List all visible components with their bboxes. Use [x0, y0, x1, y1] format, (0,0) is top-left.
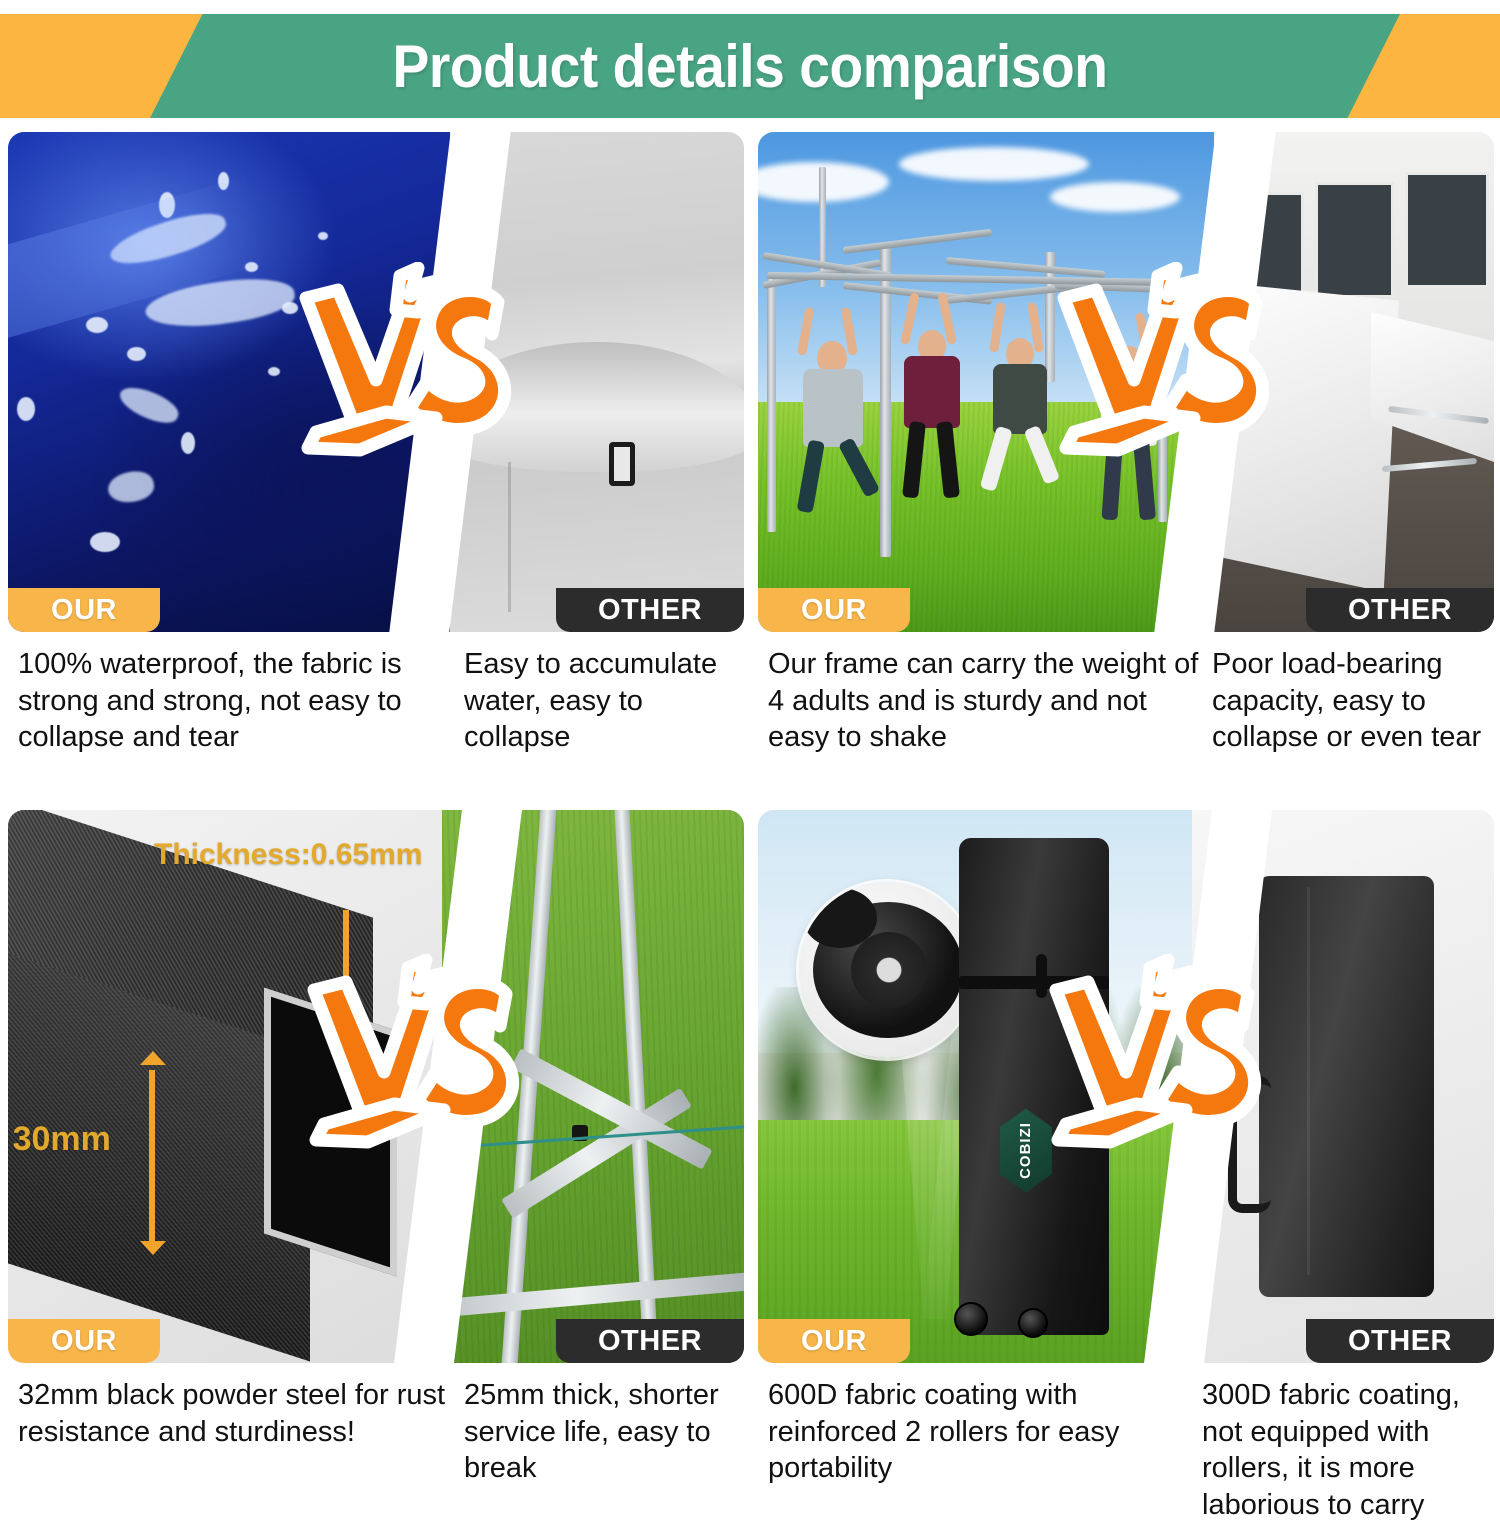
window — [1315, 182, 1394, 298]
brand-logo-text: COBIZI — [1017, 1122, 1034, 1179]
other-carry-bag — [1259, 876, 1434, 1296]
person-arm — [900, 292, 920, 345]
canopy-leg — [767, 272, 776, 532]
panel-image-stage: Thickness:0.65mm 30mm — [8, 810, 744, 1363]
page-header-banner: Product details comparison — [0, 14, 1500, 118]
comparison-panel-carry-bag: COBIZI OUR OTHER — [758, 810, 1494, 1523]
cloud — [899, 147, 1089, 181]
height-arrow-down — [140, 1241, 166, 1255]
our-caption: Our frame can carry the weight of 4 adul… — [758, 646, 1208, 756]
fabric-loop-detail — [609, 442, 635, 486]
person-leg — [797, 440, 825, 514]
comparison-grid: OUR OTHER 100% waterproof, the fabric is… — [0, 132, 1500, 1500]
other-badge: OTHER — [1306, 588, 1494, 632]
person-torso — [993, 364, 1047, 434]
other-badge: OTHER — [1306, 1319, 1494, 1363]
water-droplet — [17, 397, 35, 421]
person-hanging — [890, 292, 976, 507]
person-leg — [936, 421, 960, 498]
vs-icon — [290, 262, 520, 482]
other-badge: OTHER — [556, 1319, 744, 1363]
person-leg — [980, 426, 1013, 492]
panel-image-stage: COBIZI OUR OTHER — [758, 810, 1494, 1363]
panel-captions: 600D fabric coating with reinforced 2 ro… — [758, 1377, 1494, 1523]
other-caption: 300D fabric coating, not equipped with r… — [1198, 1377, 1494, 1523]
panel-image-stage: OUR OTHER — [8, 132, 744, 632]
person-leg — [902, 421, 926, 498]
thickness-annotation: Thickness:0.65mm — [154, 838, 422, 872]
person-torso — [904, 356, 960, 428]
wheel-closeup-inset — [799, 882, 975, 1058]
vs-icon — [298, 954, 528, 1174]
panel-image-stage: OUR OTHER — [758, 132, 1494, 632]
vs-icon — [1048, 262, 1278, 482]
other-badge: OTHER — [556, 588, 744, 632]
panel-captions: 32mm black powder steel for rust resista… — [8, 1377, 744, 1487]
water-droplet — [90, 532, 120, 552]
other-caption: Easy to accumulate water, easy to collap… — [460, 646, 744, 756]
wheel-second — [803, 888, 877, 948]
window — [1405, 172, 1489, 288]
page-title: Product details comparison — [60, 14, 1440, 118]
bag-roller-wheel — [1018, 1308, 1048, 1338]
wheel-hub — [851, 932, 927, 1008]
height-arrow-up — [140, 1051, 166, 1065]
comparison-panel-waterproof: OUR OTHER 100% waterproof, the fabric is… — [8, 132, 744, 756]
our-badge: OUR — [758, 588, 910, 632]
comparison-panel-steel-tube: Thickness:0.65mm 30mm — [8, 810, 744, 1487]
our-caption: 600D fabric coating with reinforced 2 ro… — [758, 1377, 1198, 1523]
person-hanging — [791, 307, 881, 527]
water-droplet — [127, 347, 146, 361]
height-annotation: 30mm — [13, 1120, 111, 1159]
vs-icon — [1040, 954, 1270, 1174]
fabric-crease — [508, 462, 511, 612]
cloud — [1050, 182, 1180, 212]
bag-seam — [1307, 887, 1310, 1274]
water-droplet — [268, 367, 280, 376]
panel-captions: Our frame can carry the weight of 4 adul… — [758, 646, 1494, 756]
person-torso — [803, 369, 863, 447]
water-droplet — [86, 317, 108, 333]
our-badge: OUR — [758, 1319, 910, 1363]
height-measure-line — [149, 1070, 155, 1241]
comparison-panel-load-bearing: OUR OTHER Our frame can carry the weight… — [758, 132, 1494, 756]
our-badge: OUR — [8, 1319, 160, 1363]
our-caption: 100% waterproof, the fabric is strong an… — [8, 646, 460, 756]
our-caption: 32mm black powder steel for rust resista… — [8, 1377, 460, 1487]
our-badge: OUR — [8, 588, 160, 632]
other-caption: 25mm thick, shorter service life, easy t… — [460, 1377, 744, 1487]
other-caption: Poor load-bearing capacity, easy to coll… — [1208, 646, 1494, 756]
person-arm — [989, 302, 1006, 353]
panel-captions: 100% waterproof, the fabric is strong an… — [8, 646, 744, 756]
person-arm — [797, 307, 814, 356]
